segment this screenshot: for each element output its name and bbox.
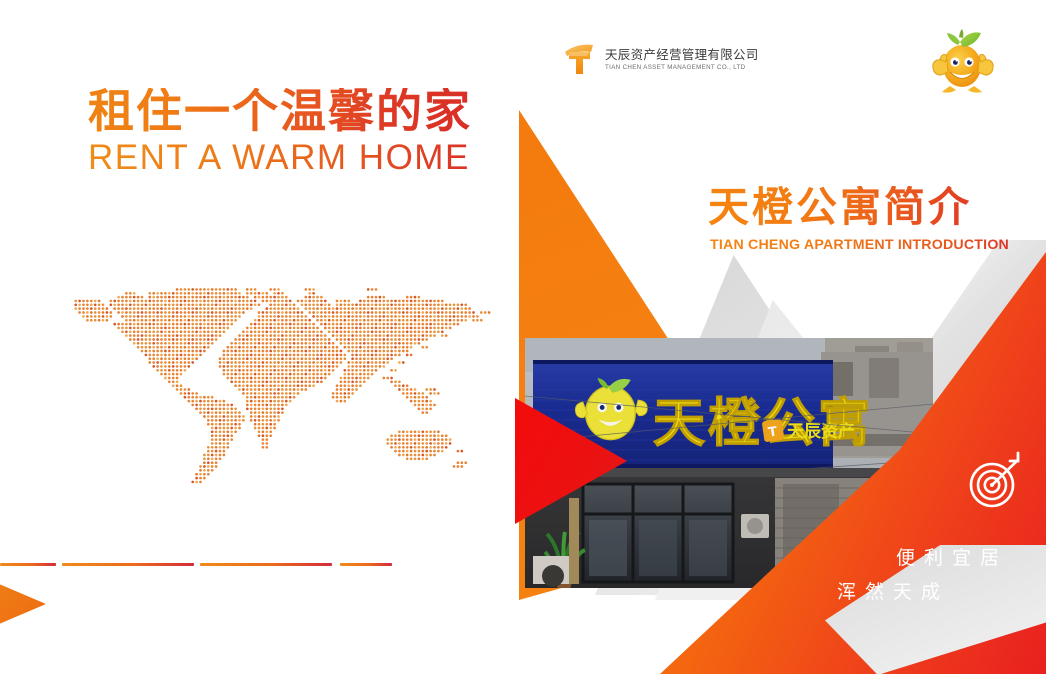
slogan-line-1: 便利宜居 xyxy=(896,543,1008,570)
world-map-graphic xyxy=(62,272,492,492)
orange-arrow-marker xyxy=(0,575,46,633)
right-panel: 天橙公寓 T 天辰资产 xyxy=(505,0,1046,674)
logo-company-name-cn: 天辰资产经营管理有限公司 xyxy=(605,49,759,62)
left-headline-cn: 租住一个温馨的家 xyxy=(88,88,472,134)
left-headline-en: RENT A WARM HOME xyxy=(88,140,470,175)
dashed-rule xyxy=(0,563,425,566)
logo-mark-icon xyxy=(563,43,598,77)
target-dartboard-icon xyxy=(965,450,1027,512)
company-logo: 天辰资产经营管理有限公司 TIAN CHEN ASSET MANAGEMENT … xyxy=(563,43,759,77)
slide-canvas: 租住一个温馨的家 RENT A WARM HOME xyxy=(0,0,1046,674)
logo-company-name-en: TIAN CHEN ASSET MANAGEMENT CO., LTD xyxy=(605,65,759,71)
left-panel: 租住一个温馨的家 RENT A WARM HOME xyxy=(0,0,505,674)
orange-mascot-thumbs-up-icon xyxy=(923,28,1001,96)
page-title-cn: 天橙公寓简介 xyxy=(708,186,972,229)
page-title-en: TIAN CHENG APARTMENT INTRODUCTION xyxy=(710,237,1009,253)
slogan-line-2: 浑然天成 xyxy=(837,577,949,604)
